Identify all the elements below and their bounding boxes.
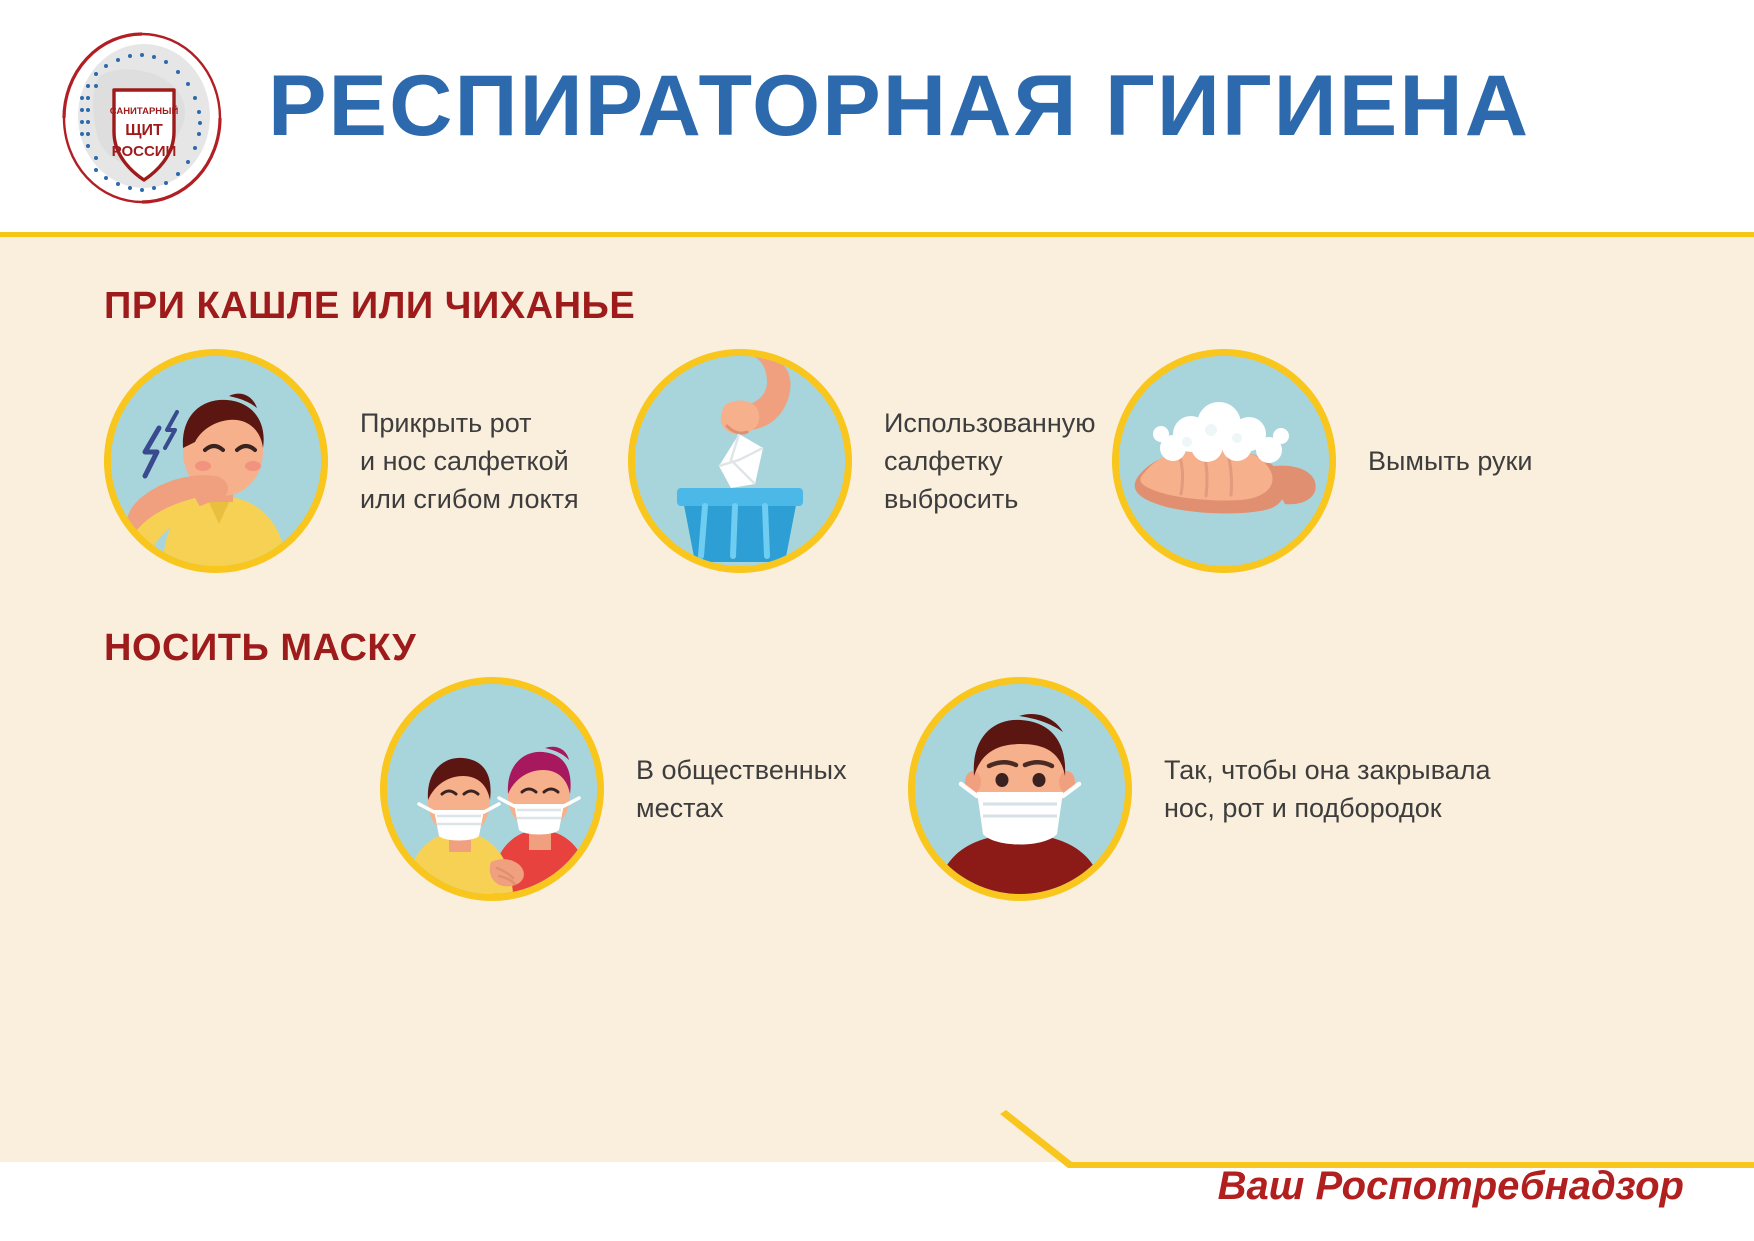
caption-line: и нос салфеткой	[360, 446, 569, 476]
tissue-into-bin-icon	[628, 349, 852, 573]
section-heading-mask: НОСИТЬ МАСКУ	[104, 627, 416, 669]
item-caption: Так, чтобы она закрывала нос, рот и подб…	[1164, 751, 1491, 827]
caption-line: В общественных	[636, 755, 847, 785]
item-caption: Прикрыть рот и нос салфеткой или сгибом …	[360, 404, 579, 518]
man-wearing-mask-icon	[908, 677, 1132, 901]
caption-line: Использованную	[884, 408, 1096, 438]
sanitary-shield-of-russia-logo: САНИТАРНЫЙ ЩИТ РОССИИ	[52, 28, 232, 208]
washing-hands-icon	[1112, 349, 1336, 573]
caption-line: Так, чтобы она закрывала	[1164, 755, 1491, 785]
page-title: РЕСПИРАТОРНАЯ ГИГИЕНА	[268, 58, 1530, 154]
item-caption: Использованную салфетку выбросить	[884, 404, 1096, 518]
two-people-in-masks-icon	[380, 677, 604, 901]
list-item: Прикрыть рот и нос салфеткой или сгибом …	[104, 349, 579, 573]
list-item: Использованную салфетку выбросить	[628, 349, 1096, 573]
caption-line: салфетку	[884, 446, 1003, 476]
footer-signature: Ваш Роспотребнадзор	[1218, 1160, 1684, 1212]
list-item: Вымыть руки	[1112, 349, 1532, 573]
caption-line: Вымыть руки	[1368, 446, 1532, 476]
caption-line: Прикрыть рот	[360, 408, 531, 438]
item-caption: В общественных местах	[636, 751, 847, 827]
item-caption: Вымыть руки	[1368, 442, 1532, 480]
caption-line: выбросить	[884, 484, 1018, 514]
list-item: В общественных местах	[380, 677, 847, 901]
poster-root: САНИТАРНЫЙ ЩИТ РОССИИ РЕСПИРАТОРНАЯ ГИГИ…	[0, 0, 1754, 1241]
poster-header: САНИТАРНЫЙ ЩИТ РОССИИ РЕСПИРАТОРНАЯ ГИГИ…	[0, 0, 1754, 232]
content-panel: ПРИ КАШЛЕ ИЛИ ЧИХАНЬЕ	[0, 232, 1754, 1167]
logo-line-1: САНИТАРНЫЙ	[110, 105, 179, 117]
list-item: Так, чтобы она закрывала нос, рот и подб…	[908, 677, 1491, 901]
logo-line-2: ЩИТ	[125, 122, 163, 139]
section-heading-cough: ПРИ КАШЛЕ ИЛИ ЧИХАНЬЕ	[104, 285, 635, 327]
logo-line-3: РОССИИ	[112, 143, 177, 160]
sneeze-into-elbow-icon	[104, 349, 328, 573]
caption-line: или сгибом локтя	[360, 484, 579, 514]
caption-line: нос, рот и подбородок	[1164, 793, 1442, 823]
caption-line: местах	[636, 793, 724, 823]
